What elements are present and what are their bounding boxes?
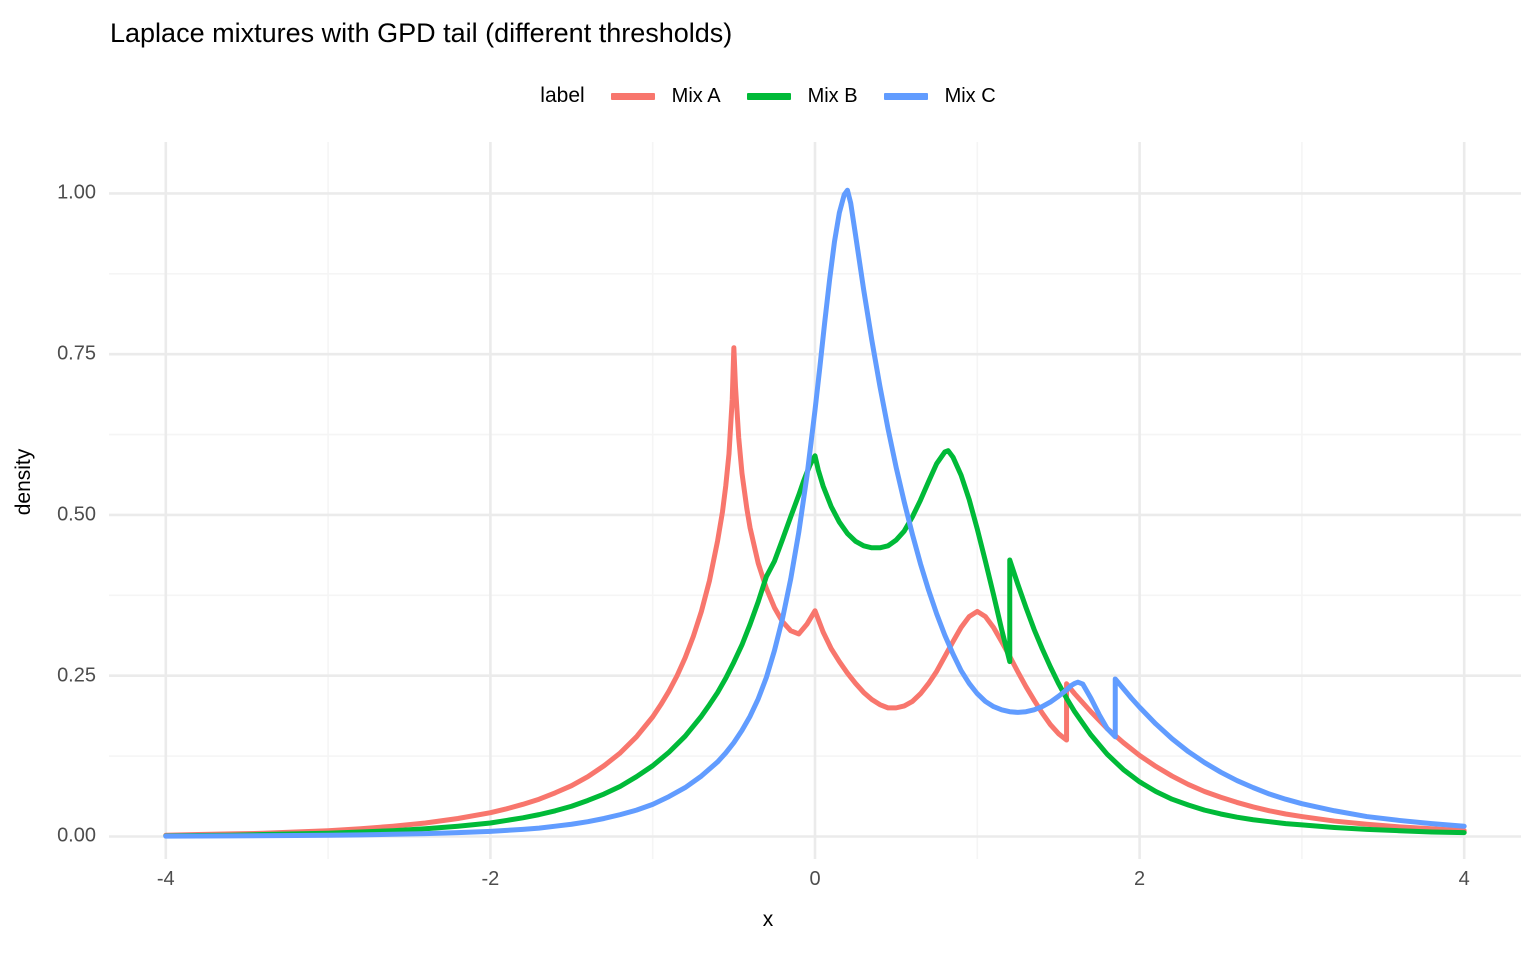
legend-label-mix-c: Mix C (945, 85, 996, 108)
y-tick-label: 0.75 (57, 343, 96, 366)
legend-label-mix-a: Mix A (672, 85, 721, 108)
x-axis-title: x (0, 908, 1536, 932)
y-tick-label: 1.00 (57, 182, 96, 205)
y-axis-title: density (12, 422, 36, 542)
x-tick-label: 4 (1459, 868, 1470, 891)
chart-figure: Laplace mixtures with GPD tail (differen… (0, 0, 1536, 960)
x-tick-label: 0 (809, 868, 820, 891)
y-tick-label: 0.00 (57, 825, 96, 848)
legend-title: label (540, 84, 584, 108)
legend-item-mix-a[interactable]: Mix A (611, 85, 721, 108)
legend-item-mix-b[interactable]: Mix B (747, 85, 858, 108)
x-tick-label: 2 (1134, 868, 1145, 891)
legend-key-mix-b (747, 93, 791, 100)
x-tick-label: -4 (157, 868, 175, 891)
y-tick-label: 0.50 (57, 503, 96, 526)
x-tick-label: -2 (481, 868, 499, 891)
legend-label-mix-b: Mix B (808, 85, 858, 108)
plot-area (109, 142, 1521, 859)
legend-key-mix-c (884, 93, 928, 100)
legend-item-mix-c[interactable]: Mix C (884, 85, 996, 108)
major-gridlines (109, 142, 1521, 859)
legend: label Mix A Mix B Mix C (0, 84, 1536, 108)
legend-key-mix-a (611, 93, 655, 100)
page-title: Laplace mixtures with GPD tail (differen… (110, 18, 732, 49)
x-axis-tick-labels: -4-2024 (109, 868, 1521, 898)
plot-panel (109, 142, 1521, 859)
y-tick-label: 0.25 (57, 664, 96, 687)
